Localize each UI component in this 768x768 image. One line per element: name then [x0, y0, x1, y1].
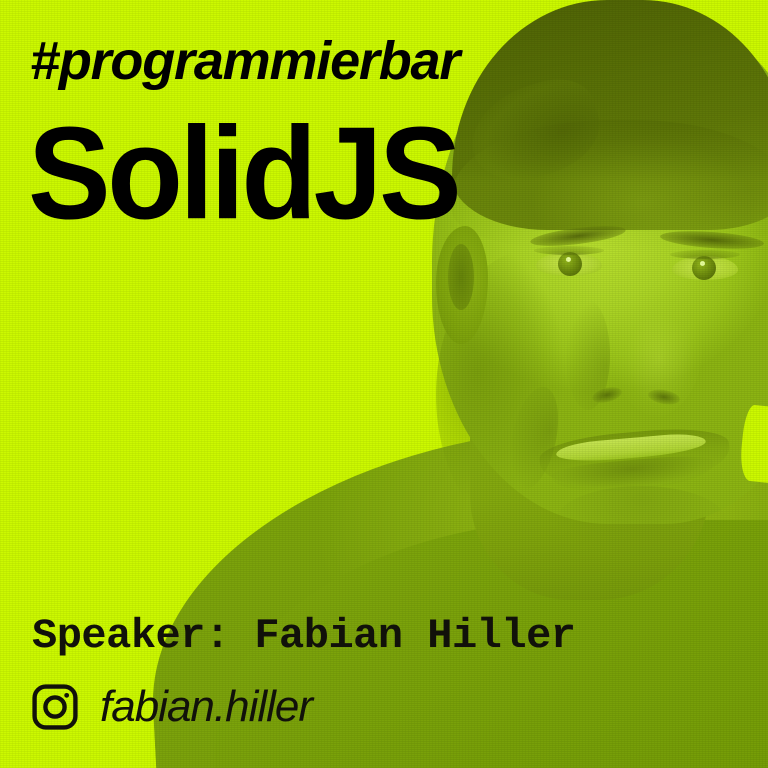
portrait-iris-left — [558, 252, 582, 276]
instagram-handle-row: fabian.hiller — [30, 682, 312, 732]
podcast-episode-poster: #programmierbar SolidJS Speaker: Fabian … — [0, 0, 768, 768]
instagram-icon — [30, 682, 80, 732]
portrait-iris-right — [692, 256, 716, 280]
portrait-chin-shadow — [556, 486, 726, 556]
portrait-ear-inner — [448, 244, 474, 310]
brand-hashtag: #programmierbar — [30, 30, 459, 92]
instagram-handle-text: fabian.hiller — [100, 682, 312, 732]
speaker-credit: Speaker: Fabian Hiller — [32, 612, 576, 660]
portrait-eye-glint-left — [566, 257, 571, 262]
portrait-eyelid-left — [534, 246, 604, 255]
page-title: SolidJS — [28, 108, 458, 239]
portrait-eye-glint-right — [700, 261, 705, 266]
portrait-eyelid-right — [670, 250, 740, 259]
